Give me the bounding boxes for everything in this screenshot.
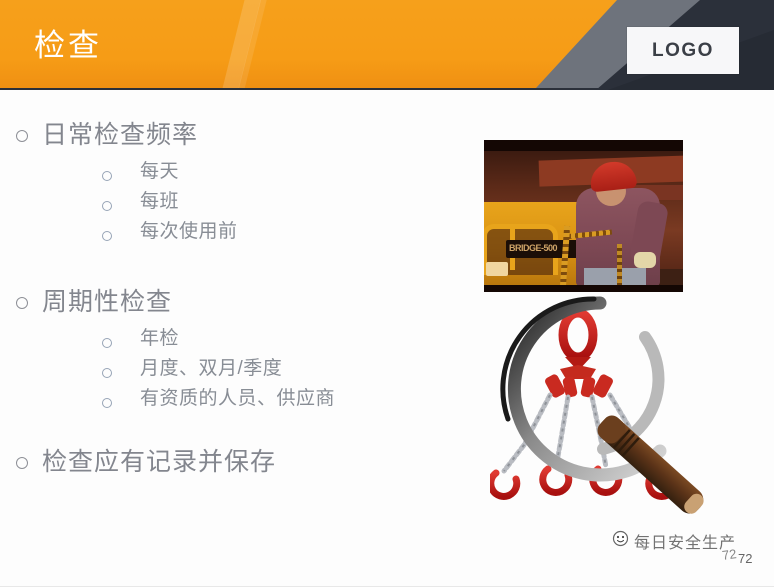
bullet-level1: 周期性检查 — [0, 285, 470, 319]
bullet-group-3: 检查应有记录并保存 — [0, 445, 470, 485]
photo-headlight — [486, 262, 508, 276]
bullet-level2: 年检 — [0, 325, 470, 353]
photo-letterbox-top — [484, 140, 683, 151]
magnifier-chain-illustration — [490, 295, 740, 530]
sub-bullet-marker-icon — [0, 325, 140, 353]
slide-canvas: 检查 LOGO 日常检查频率 每天 每班 每次使用前 — [0, 0, 774, 587]
bullet-level2: 有资质的人员、供应商 — [0, 385, 470, 413]
bullet-group-1: 日常检查频率 每天 每班 每次使用前 — [0, 118, 470, 246]
sub-bullet-marker-icon — [0, 158, 140, 186]
sub-bullet-marker-icon — [0, 188, 140, 216]
bullet-level2-text: 年检 — [140, 325, 179, 353]
photo-worker-glove — [634, 252, 656, 268]
page-number: 72 — [738, 551, 752, 566]
bullet-level1: 检查应有记录并保存 — [0, 445, 470, 479]
bullet-level2: 每天 — [0, 158, 470, 186]
page-number-shadow: 72 — [721, 546, 737, 563]
bullet-level2-text: 每天 — [140, 158, 179, 186]
sub-bullet-marker-icon — [0, 385, 140, 413]
magnifier-handle — [594, 412, 708, 518]
bullet-marker-icon — [0, 285, 42, 314]
bullet-marker-icon — [0, 118, 42, 147]
bullet-level2: 月度、双月/季度 — [0, 355, 470, 383]
bullet-level2-text: 月度、双月/季度 — [140, 355, 282, 383]
sub-bullet-marker-icon — [0, 218, 140, 246]
page-title: 检查 — [34, 26, 102, 66]
bullet-level2-text: 每次使用前 — [140, 218, 238, 246]
bullet-level2: 每次使用前 — [0, 218, 470, 246]
bullet-level2: 每班 — [0, 188, 470, 216]
bullet-group-2: 周期性检查 年检 月度、双月/季度 有资质的人员、供应商 — [0, 285, 470, 413]
bullet-level2-text: 每班 — [140, 188, 179, 216]
bullet-marker-icon — [0, 445, 42, 474]
photo-letterbox-bottom — [484, 285, 683, 292]
bullet-level2-text: 有资质的人员、供应商 — [140, 385, 335, 413]
photo-chain-right — [617, 244, 622, 290]
bullet-level1-text: 检查应有记录并保存 — [42, 445, 276, 479]
sub-bullet-marker-icon — [0, 355, 140, 383]
bullet-level1-text: 日常检查频率 — [42, 118, 198, 152]
worker-inspection-photo: BRIDGE-500 — [484, 140, 683, 292]
bullet-level1-text: 周期性检查 — [42, 285, 172, 319]
slide-body: 日常检查频率 每天 每班 每次使用前 周期性检查 年检 — [0, 90, 470, 587]
bullet-level1: 日常检查频率 — [0, 118, 470, 152]
smiley-face-icon — [612, 530, 629, 552]
logo-placeholder[interactable]: LOGO — [627, 27, 739, 74]
watermark: 每日安全生产 — [612, 529, 736, 553]
slide-header: 检查 LOGO — [0, 0, 774, 90]
logo-label: LOGO — [652, 40, 714, 62]
